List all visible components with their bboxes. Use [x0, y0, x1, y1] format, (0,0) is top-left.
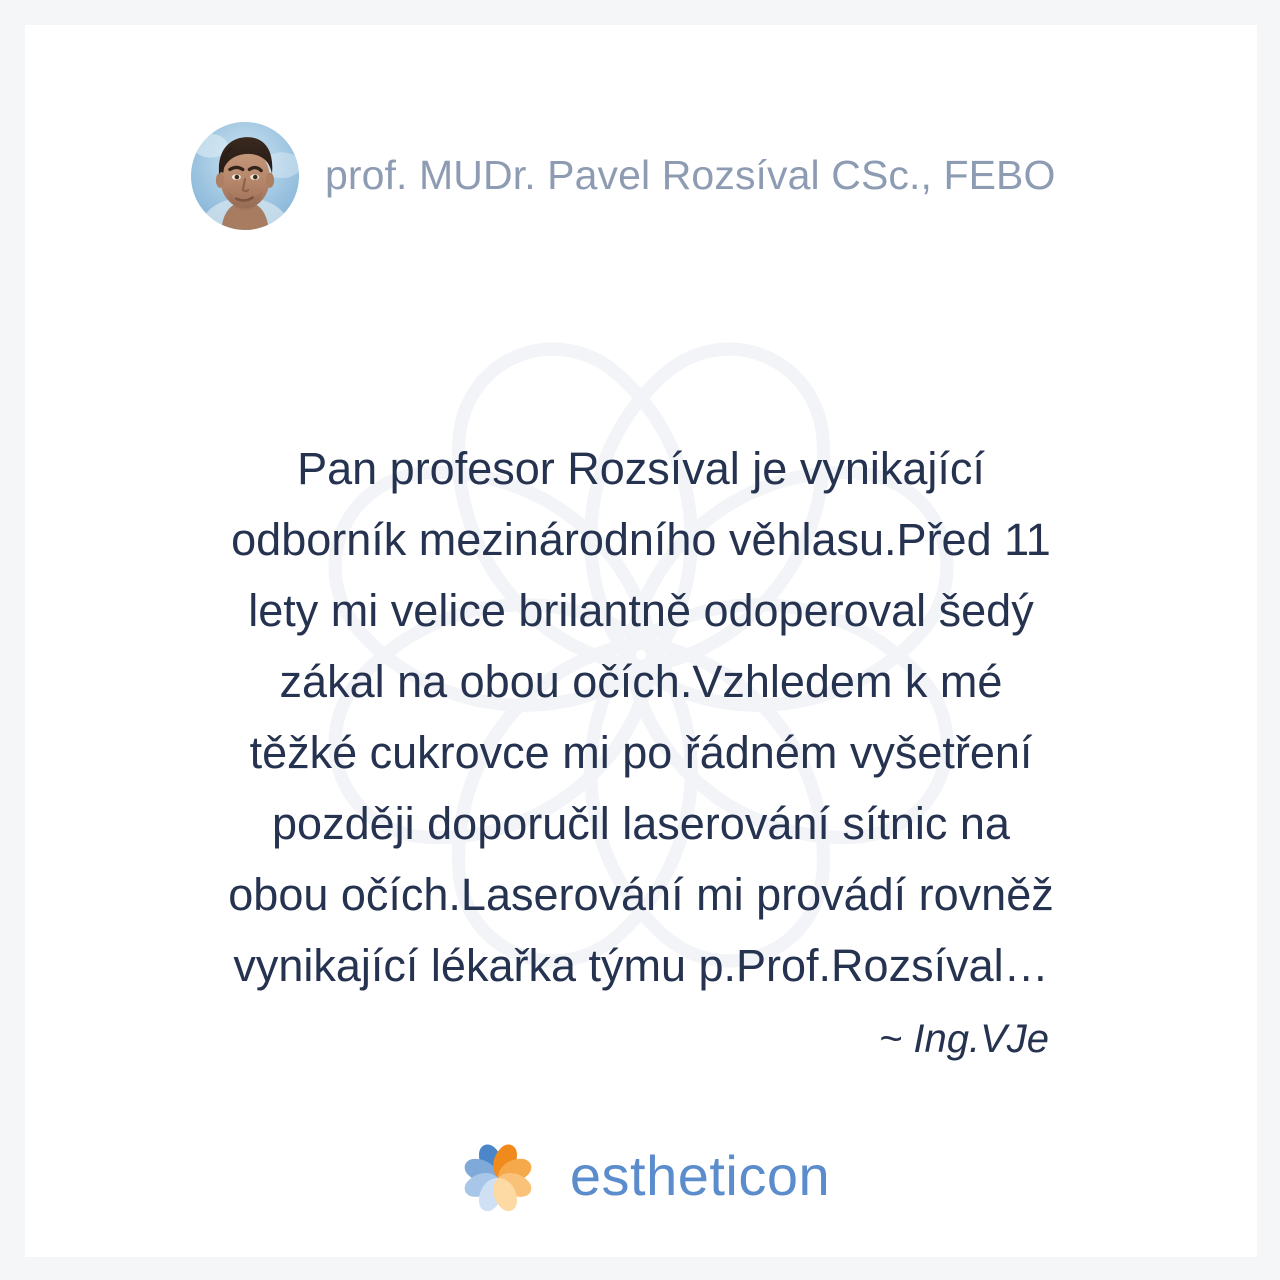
quote-attribution: ~ Ing.VJe [189, 1017, 1093, 1062]
quote-line: později doporučil laserování sítnic na [189, 788, 1093, 859]
author-name: prof. MUDr. Pavel Rozsíval CSc., FEBO [325, 153, 1056, 198]
quote-line: lety mi velice brilantně odoperoval šedý [189, 575, 1093, 646]
quote-line: obou očích.Laserování mi provádí rovněž [189, 859, 1093, 930]
quote-line: zákal na obou očích.Vzhledem k mé [189, 646, 1093, 717]
brand-footer: estheticon [25, 1130, 1257, 1222]
estheticon-wordmark: estheticon [570, 1148, 830, 1204]
quote-line: vynikající lékařka týmu p.Prof.Rozsíval… [189, 930, 1093, 1001]
estheticon-flower-icon [452, 1130, 544, 1222]
quote-line: těžké cukrovce mi po řádném vyšetření [189, 717, 1093, 788]
quote-line: odborník mezinárodního věhlasu.Před 11 [189, 504, 1093, 575]
testimonial-header: prof. MUDr. Pavel Rozsíval CSc., FEBO [191, 122, 1056, 230]
quote-line: Pan profesor Rozsíval je vynikající [189, 433, 1093, 504]
avatar [191, 122, 299, 230]
testimonial-quote: Pan profesor Rozsíval je vynikající odbo… [189, 433, 1093, 1062]
testimonial-card: prof. MUDr. Pavel Rozsíval CSc., FEBO Pa… [25, 25, 1257, 1257]
